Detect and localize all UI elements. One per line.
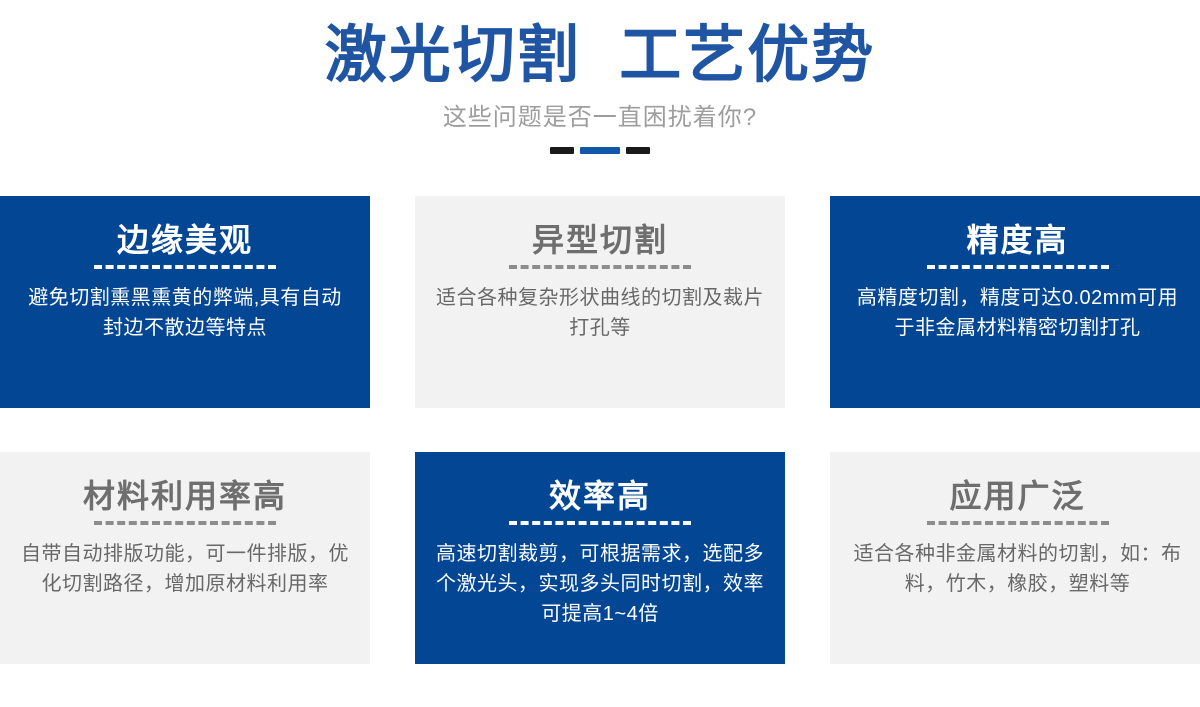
promo-page: 激光切割 工艺优势 这些问题是否一直困扰着你? 边缘美观 避免切割熏黑熏黄的弊端… [0,0,1200,707]
feature-card-body: 自带自动排版功能，可一件排版，优化切割路径，增加原材料利用率 [18,539,352,599]
dash-middle-icon [580,147,620,154]
feature-card-title: 异型切割 [532,222,668,259]
feature-card-divider [94,521,276,525]
feature-card-1: 边缘美观 避免切割熏黑熏黄的弊端,具有自动封边不散边等特点 [0,196,370,408]
feature-card-title: 边缘美观 [117,222,253,259]
feature-card-divider [94,265,276,269]
feature-card-grid: 边缘美观 避免切割熏黑熏黄的弊端,具有自动封边不散边等特点 异型切割 适合各种复… [0,196,1200,664]
feature-card-body: 高速切割裁剪，可根据需求，选配多个激光头，实现多头同时切割，效率可提高1~4倍 [433,539,767,629]
page-title: 激光切割 工艺优势 [0,22,1200,90]
page-subtitle: 这些问题是否一直困扰着你? [0,104,1200,133]
feature-card-body: 适合各种非金属材料的切割，如：布料，竹木，橡胶，塑料等 [848,539,1187,599]
feature-card-4: 材料利用率高 自带自动排版功能，可一件排版，优化切割路径，增加原材料利用率 [0,452,370,664]
feature-card-5: 效率高 高速切割裁剪，可根据需求，选配多个激光头，实现多头同时切割，效率可提高1… [415,452,785,664]
page-header: 激光切割 工艺优势 这些问题是否一直困扰着你? [0,0,1200,154]
feature-card-title: 应用广泛 [949,478,1085,515]
feature-card-6: 应用广泛 适合各种非金属材料的切割，如：布料，竹木，橡胶，塑料等 [830,452,1200,664]
dash-right-icon [626,147,650,154]
feature-card-divider [509,521,691,525]
feature-card-title: 材料利用率高 [83,478,287,515]
feature-card-divider [927,265,1109,269]
feature-card-2: 异型切割 适合各种复杂形状曲线的切割及裁片打孔等 [415,196,785,408]
dash-left-icon [550,147,574,154]
header-dash-decoration [550,147,650,154]
feature-card-3: 精度高 高精度切割，精度可达0.02mm可用于非金属材料精密切割打孔 [830,196,1200,408]
feature-card-body: 避免切割熏黑熏黄的弊端,具有自动封边不散边等特点 [18,283,352,343]
feature-card-title: 精度高 [966,222,1068,259]
feature-card-title: 效率高 [549,478,651,515]
feature-card-divider [927,521,1109,525]
feature-card-divider [509,265,691,269]
feature-card-body: 高精度切割，精度可达0.02mm可用于非金属材料精密切割打孔 [848,283,1187,343]
feature-card-body: 适合各种复杂形状曲线的切割及裁片打孔等 [433,283,767,343]
